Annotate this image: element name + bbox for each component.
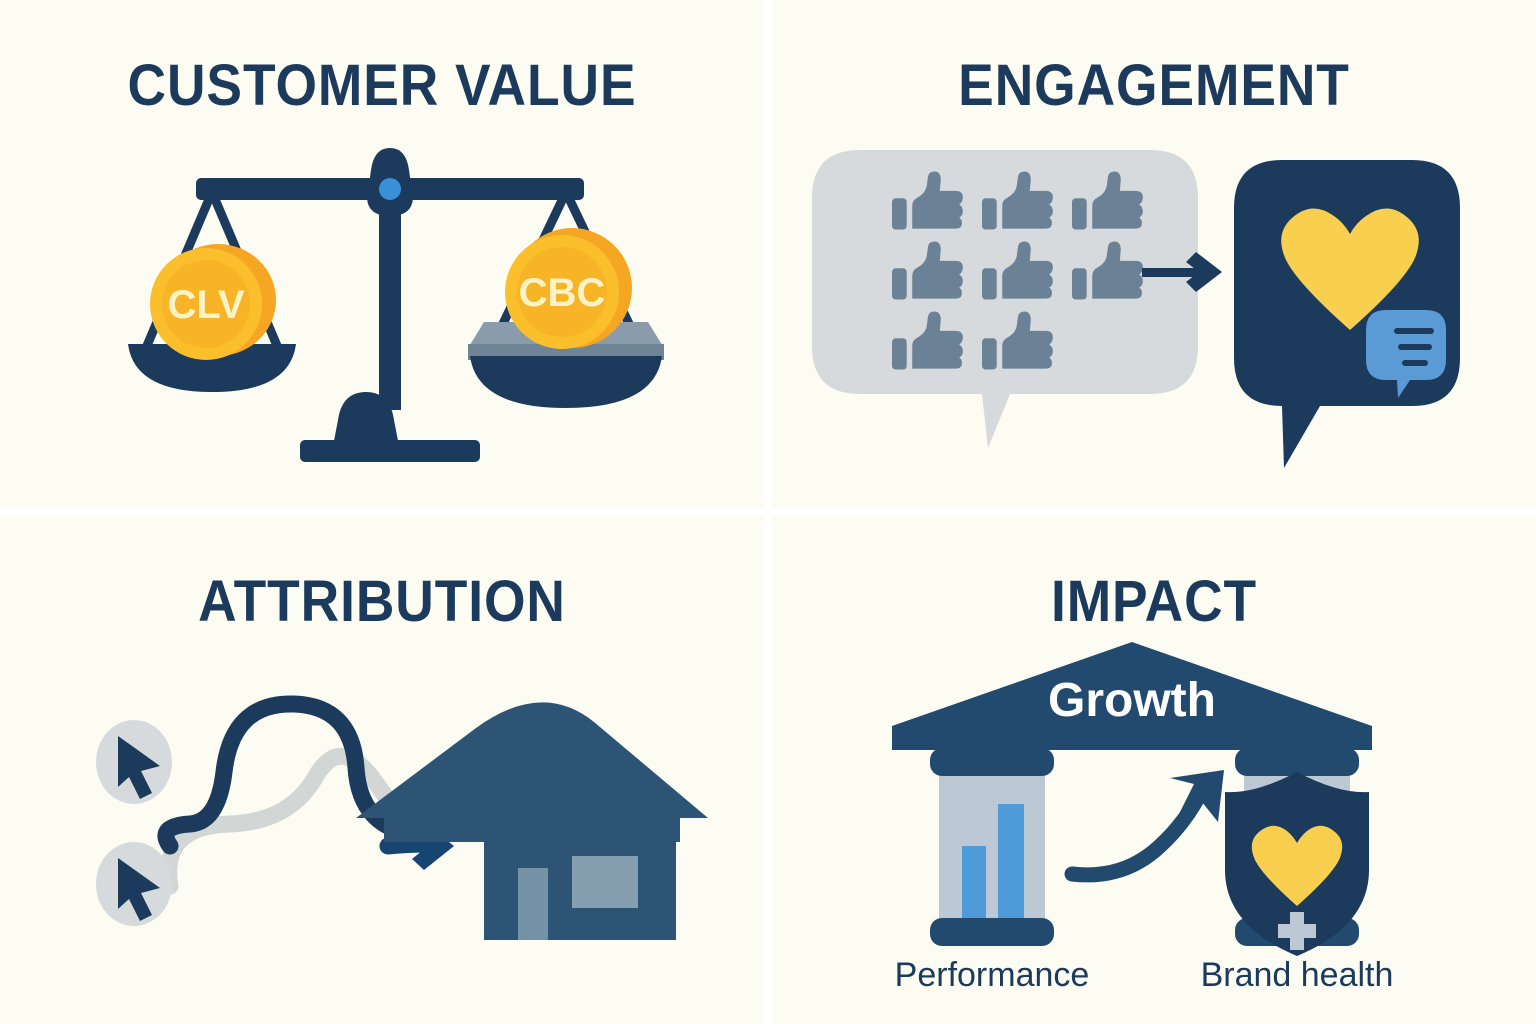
left-coin-label: CLV bbox=[167, 283, 244, 327]
column-base bbox=[930, 918, 1054, 946]
balance-scale-icon: CLV CBC bbox=[0, 0, 764, 508]
house-door bbox=[518, 868, 548, 940]
panel-impact: IMPACT Growth Performance bbox=[772, 516, 1536, 1024]
journey-paths-icon bbox=[0, 516, 764, 1024]
temple-icon: Growth Performance bbox=[772, 516, 1536, 1024]
panel-customer-value: CUSTOMER VALUE bbox=[0, 0, 764, 508]
house-icon bbox=[356, 702, 708, 940]
cursor-icon bbox=[96, 842, 172, 926]
bar-1 bbox=[962, 846, 986, 918]
panel-grid: CUSTOMER VALUE bbox=[0, 0, 1536, 1024]
right-pan bbox=[470, 356, 662, 408]
column-label-brand-health: Brand health bbox=[1201, 956, 1394, 994]
bar-2 bbox=[998, 804, 1024, 918]
column-capital bbox=[930, 748, 1054, 776]
cursor-icon bbox=[96, 720, 172, 804]
panel-attribution: ATTRIBUTION bbox=[0, 516, 764, 1024]
panel-engagement: ENGAGEMENT bbox=[772, 0, 1536, 508]
pediment-label: Growth bbox=[1048, 674, 1216, 727]
infographic-canvas: CUSTOMER VALUE bbox=[0, 0, 1536, 1024]
scale-pivot-dot bbox=[379, 178, 401, 200]
speech-bubbles-icon bbox=[772, 0, 1536, 508]
column-capital bbox=[1235, 748, 1359, 776]
curved-arrow-up-icon bbox=[1072, 770, 1224, 875]
house-window bbox=[572, 856, 638, 908]
right-coin-label: CBC bbox=[519, 271, 606, 315]
column-performance bbox=[930, 748, 1054, 946]
column-label-performance: Performance bbox=[895, 956, 1090, 994]
